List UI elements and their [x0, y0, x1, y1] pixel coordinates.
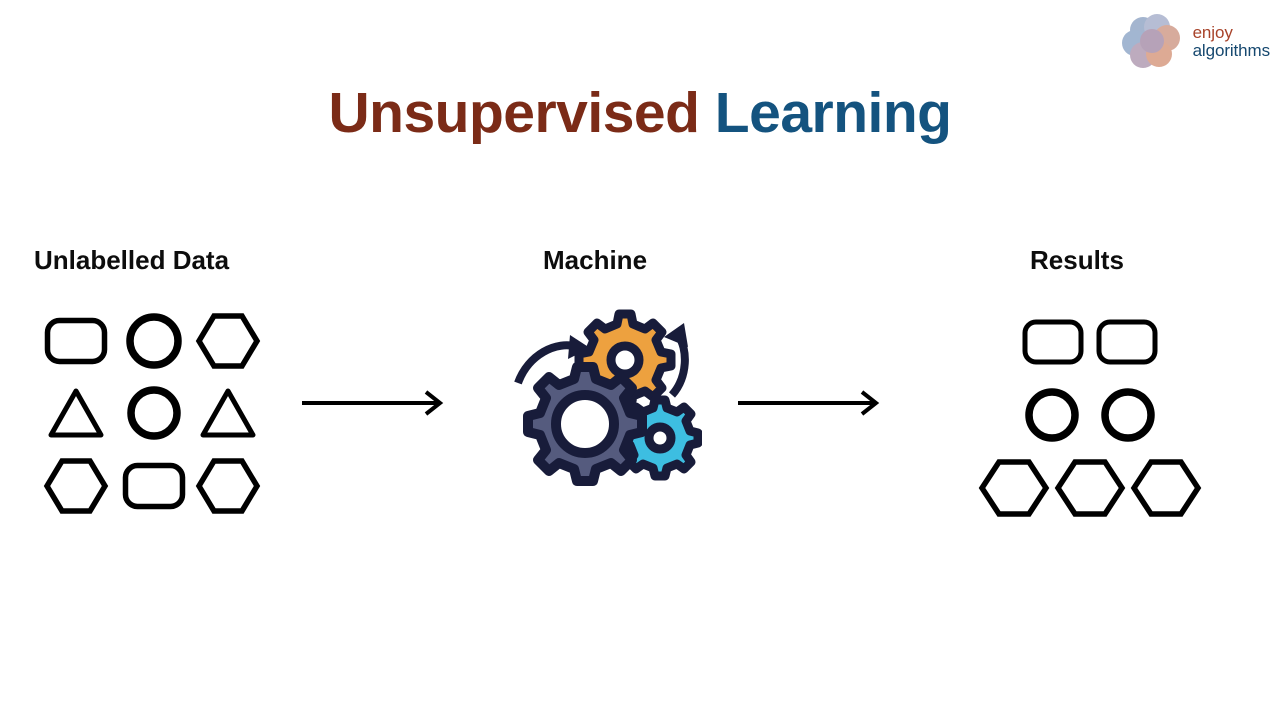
brand-logo: enjoy algorithms	[1121, 14, 1270, 70]
stage-heading-machine: Machine	[543, 245, 647, 276]
hexagon-shape	[1054, 458, 1126, 518]
rounded-rect-shape	[1022, 319, 1084, 365]
hexagon-shape	[1130, 458, 1202, 518]
hexagon-shape	[43, 457, 109, 515]
rounded-rect-shape	[1096, 319, 1158, 365]
hexagon-shape	[195, 312, 261, 370]
unlabelled-data-shape-grid	[34, 305, 265, 523]
circle-shape	[123, 382, 185, 444]
results-row-circle	[978, 378, 1202, 451]
arrow-input-to-machine	[300, 385, 448, 421]
logo-word-algorithms: algorithms	[1193, 42, 1270, 60]
page-title: Unsupervised Learning	[0, 80, 1280, 146]
hexagon-shape	[195, 457, 261, 515]
stage-heading-results: Results	[1030, 245, 1124, 276]
hexagon-shape	[978, 458, 1050, 518]
triangle-shape	[46, 386, 106, 440]
logo-wordmark: enjoy algorithms	[1193, 24, 1270, 61]
triangle-shape	[198, 386, 258, 440]
rounded-rect-shape	[122, 462, 186, 510]
circle-shape	[1022, 385, 1082, 445]
title-word-unsupervised: Unsupervised	[328, 81, 699, 145]
results-row-hexagon	[978, 451, 1202, 524]
circle-shape	[123, 310, 185, 372]
rounded-rect-shape	[44, 317, 108, 365]
arrow-machine-to-output	[736, 385, 884, 421]
title-word-learning: Learning	[715, 81, 952, 145]
logo-word-enjoy: enjoy	[1193, 24, 1270, 42]
right-arrow-icon	[302, 392, 440, 414]
results-shape-cluster	[978, 305, 1202, 524]
right-arrow-icon	[738, 392, 876, 414]
circle-shape	[1098, 385, 1158, 445]
flower-circles-logo-icon	[1121, 14, 1187, 70]
gears-icon	[512, 307, 702, 487]
large-gear	[528, 367, 642, 481]
results-row-rounded-rect	[978, 305, 1202, 378]
stage-heading-unlabelled-data: Unlabelled Data	[34, 245, 229, 276]
